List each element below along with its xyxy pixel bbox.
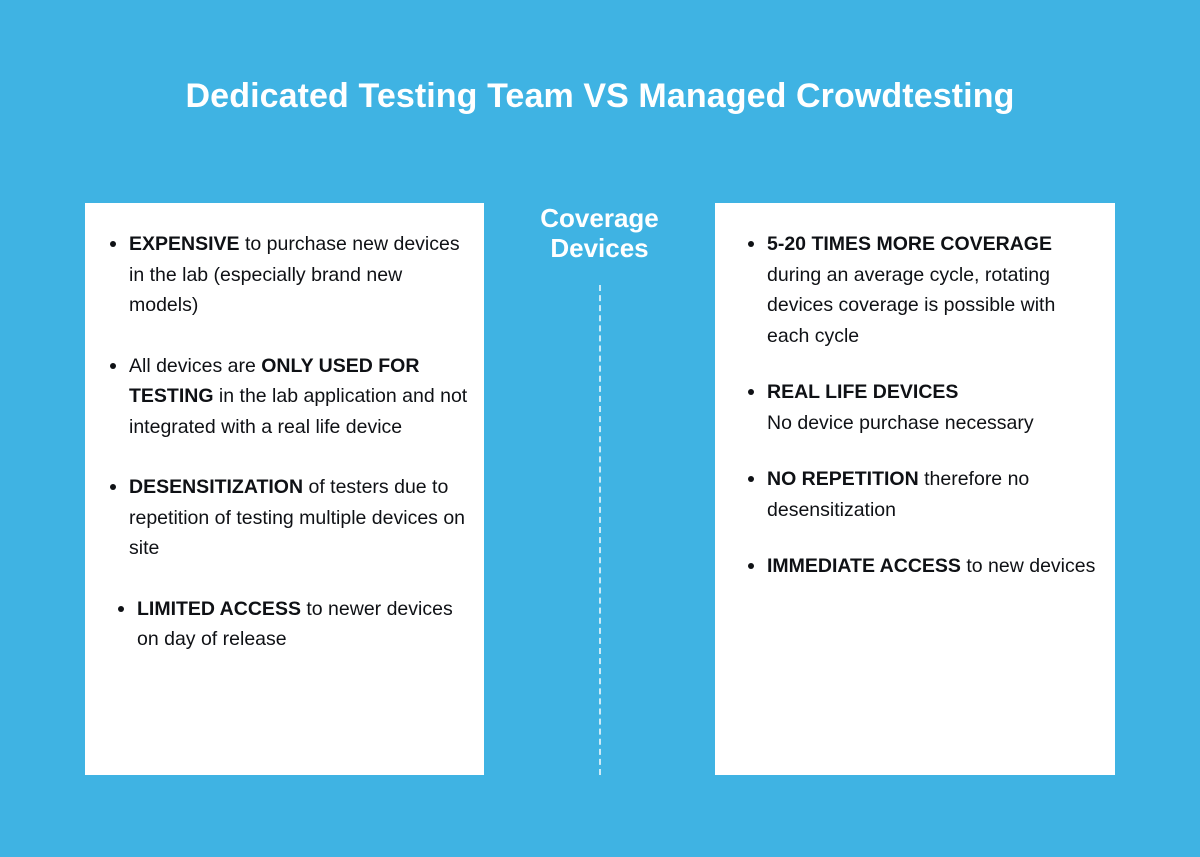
page-title: Dedicated Testing Team VS Managed Crowdt… [0, 74, 1200, 118]
list-item: IMMEDIATE ACCESS to new devices [739, 551, 1099, 582]
bullet-text-rest: during an average cycle, rotating device… [767, 264, 1055, 347]
bullet-emphasis: REAL LIFE DEVICES [767, 381, 958, 403]
vertical-dashed-divider [599, 285, 601, 775]
left-bullet-list: EXPENSIVE to purchase new devices in the… [101, 229, 470, 655]
center-heading-line-1: Coverage [484, 203, 715, 233]
bullet-emphasis: DESENSITIZATION [129, 476, 303, 498]
center-heading-line-2: Devices [484, 233, 715, 263]
bullet-emphasis: LIMITED ACCESS [137, 598, 301, 620]
center-heading: Coverage Devices [484, 203, 715, 263]
bullet-emphasis: EXPENSIVE [129, 233, 240, 255]
right-bullet-list: 5-20 TIMES MORE COVERAGE during an avera… [739, 229, 1099, 582]
list-item: DESENSITIZATION of testers due to repeti… [101, 472, 470, 564]
right-comparison-card: 5-20 TIMES MORE COVERAGE during an avera… [715, 203, 1115, 775]
list-item: 5-20 TIMES MORE COVERAGE during an avera… [739, 229, 1099, 351]
bullet-text-rest: to new devices [961, 555, 1095, 577]
list-item: NO REPETITION therefore no desensitizati… [739, 464, 1099, 525]
bullet-emphasis: NO REPETITION [767, 468, 919, 490]
bullet-emphasis: 5-20 TIMES MORE COVERAGE [767, 233, 1052, 255]
list-item: EXPENSIVE to purchase new devices in the… [101, 229, 470, 321]
list-item: LIMITED ACCESS to newer devices on day o… [101, 594, 470, 655]
list-item: REAL LIFE DEVICESNo device purchase nece… [739, 377, 1099, 438]
infographic-canvas: Dedicated Testing Team VS Managed Crowdt… [0, 0, 1200, 857]
list-item: All devices are ONLY USED FOR TESTING in… [101, 351, 470, 443]
bullet-emphasis: IMMEDIATE ACCESS [767, 555, 961, 577]
left-comparison-card: EXPENSIVE to purchase new devices in the… [85, 203, 484, 775]
center-column: Coverage Devices [484, 203, 715, 775]
bullet-text-rest: No device purchase necessary [767, 412, 1034, 434]
bullet-text-lead: All devices are [129, 355, 261, 377]
